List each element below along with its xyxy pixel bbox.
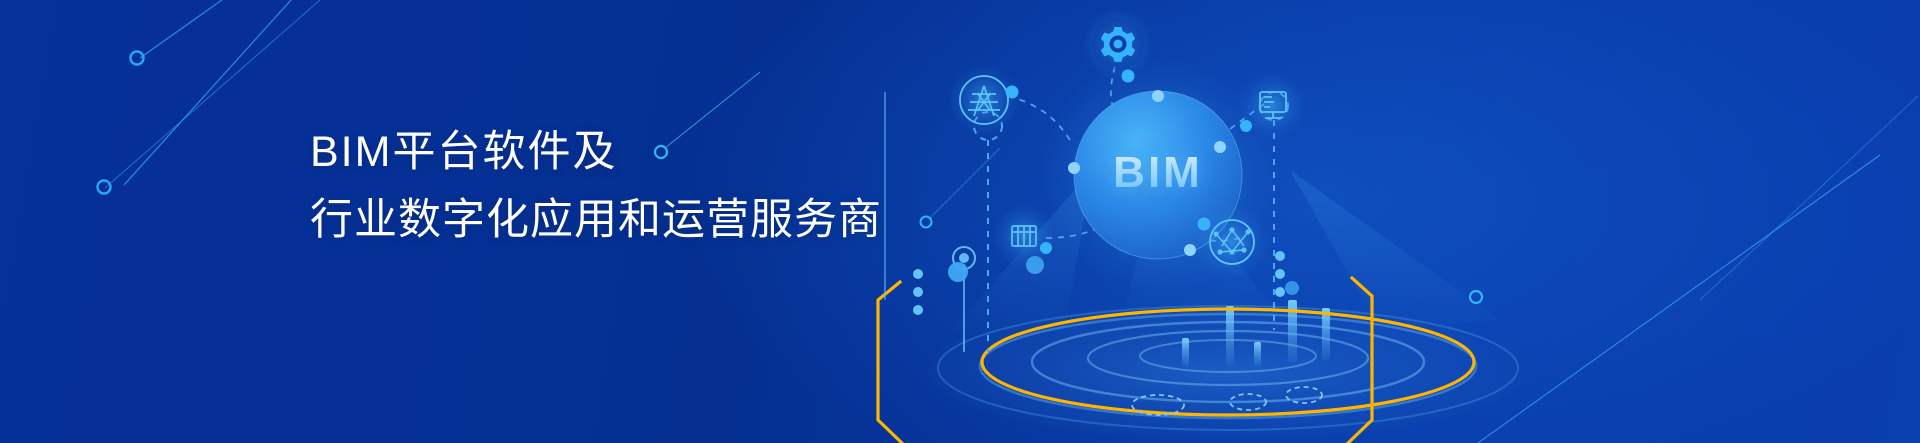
ring-node [131, 52, 144, 65]
network-globe-icon [1194, 204, 1270, 280]
headline-line-2: 行业数字化应用和运营服务商 [310, 186, 882, 254]
accent-dot [1285, 281, 1299, 295]
diagonal-line [124, 0, 300, 185]
headline-line-1: BIM平台软件及 [310, 118, 882, 186]
ring-node [98, 181, 111, 194]
dot-column-left [913, 269, 923, 315]
orange-bracket-left [878, 282, 902, 443]
hero-headline: BIM平台软件及 行业数字化应用和运营服务商 [310, 118, 882, 254]
stick-marker [885, 92, 975, 352]
monitor-icon [1238, 72, 1306, 140]
building-icon [992, 204, 1056, 268]
bim-illustration [860, 0, 1920, 443]
hero-banner: BIM平台软件及 行业数字化应用和运营服务商 [0, 0, 1920, 443]
power-tower-icon [948, 64, 1020, 136]
accent-dot [948, 262, 968, 282]
bim-core-label: BIM [1078, 148, 1238, 198]
dot-column-right [1275, 251, 1285, 297]
